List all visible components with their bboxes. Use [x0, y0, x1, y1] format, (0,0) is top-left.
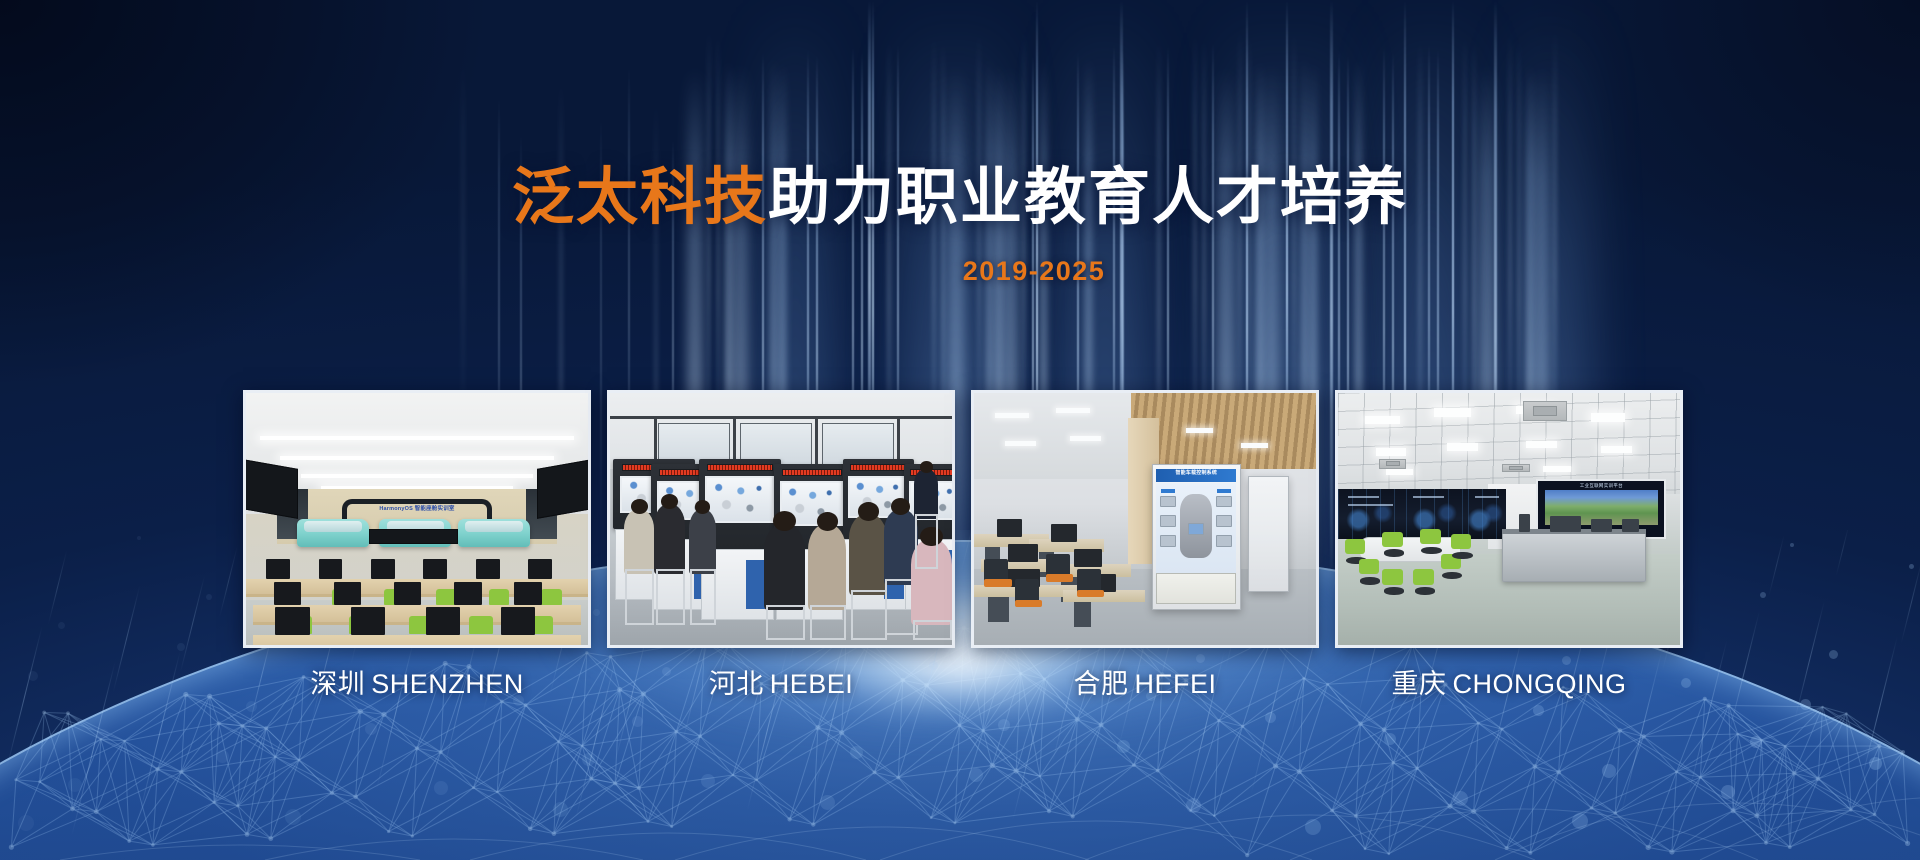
photo-hefei-vehicle-control-lab: 智能车载控制系统	[974, 393, 1316, 645]
photo-chongqing-smart-manufacturing-lab: 工业互联网实训平台	[1338, 393, 1680, 645]
caption-hebei-cn: 河北	[709, 669, 764, 699]
caption-hefei: 合肥HEFEI	[971, 662, 1319, 702]
caption-hefei-en: HEFEI	[1134, 669, 1216, 699]
caption-shenzhen: 深圳SHENZHEN	[243, 662, 591, 702]
banner-root: 泛太科技助力职业教育人才培养 2019-2025 HarmonyOS 智能座舱实…	[0, 0, 1920, 860]
photo-hefei-cabinet-title: 智能车载控制系统	[1156, 469, 1236, 482]
caption-hebei-en: HEBEI	[770, 669, 854, 699]
caption-shenzhen-cn: 深圳	[310, 669, 365, 699]
caption-shenzhen-en: SHENZHEN	[371, 669, 524, 699]
photo-card-chongqing[interactable]: 工业互联网实训平台	[1335, 390, 1683, 648]
caption-chongqing-en: CHONGQING	[1452, 669, 1626, 699]
photo-card-hebei[interactable]	[607, 390, 955, 648]
caption-chongqing-cn: 重庆	[1391, 669, 1446, 699]
title-block: 泛太科技助力职业教育人才培养 2019-2025	[0, 160, 1920, 287]
caption-hefei-cn: 合肥	[1073, 669, 1128, 699]
page-title: 泛太科技助力职业教育人才培养	[0, 160, 1920, 236]
photo-chongqing-screen-title: 工业互联网实训平台	[1538, 483, 1664, 489]
caption-row: 深圳SHENZHEN 河北HEBEI 合肥HEFEI 重庆CHONGQING	[243, 662, 1683, 702]
title-rest: 助力职业教育人才培养	[768, 163, 1408, 232]
year-range-label: 2019-2025	[0, 256, 1920, 287]
caption-hebei: 河北HEBEI	[607, 662, 955, 702]
photo-gallery: HarmonyOS 智能座舱实训室	[243, 390, 1683, 648]
photo-card-hefei[interactable]: 智能车载控制系统	[971, 390, 1319, 648]
title-brand: 泛太科技	[512, 163, 768, 232]
photo-card-shenzhen[interactable]: HarmonyOS 智能座舱实训室	[243, 390, 591, 648]
caption-chongqing: 重庆CHONGQING	[1335, 662, 1683, 702]
photo-hefei-display-cabinet: 智能车载控制系统	[1152, 464, 1241, 610]
photo-shenzhen-banner-text: HarmonyOS 智能座舱实训室	[349, 504, 486, 512]
photo-shenzhen-smart-cockpit-classroom: HarmonyOS 智能座舱实训室	[246, 393, 588, 645]
photo-hebei-industrial-training-lab	[610, 393, 952, 645]
